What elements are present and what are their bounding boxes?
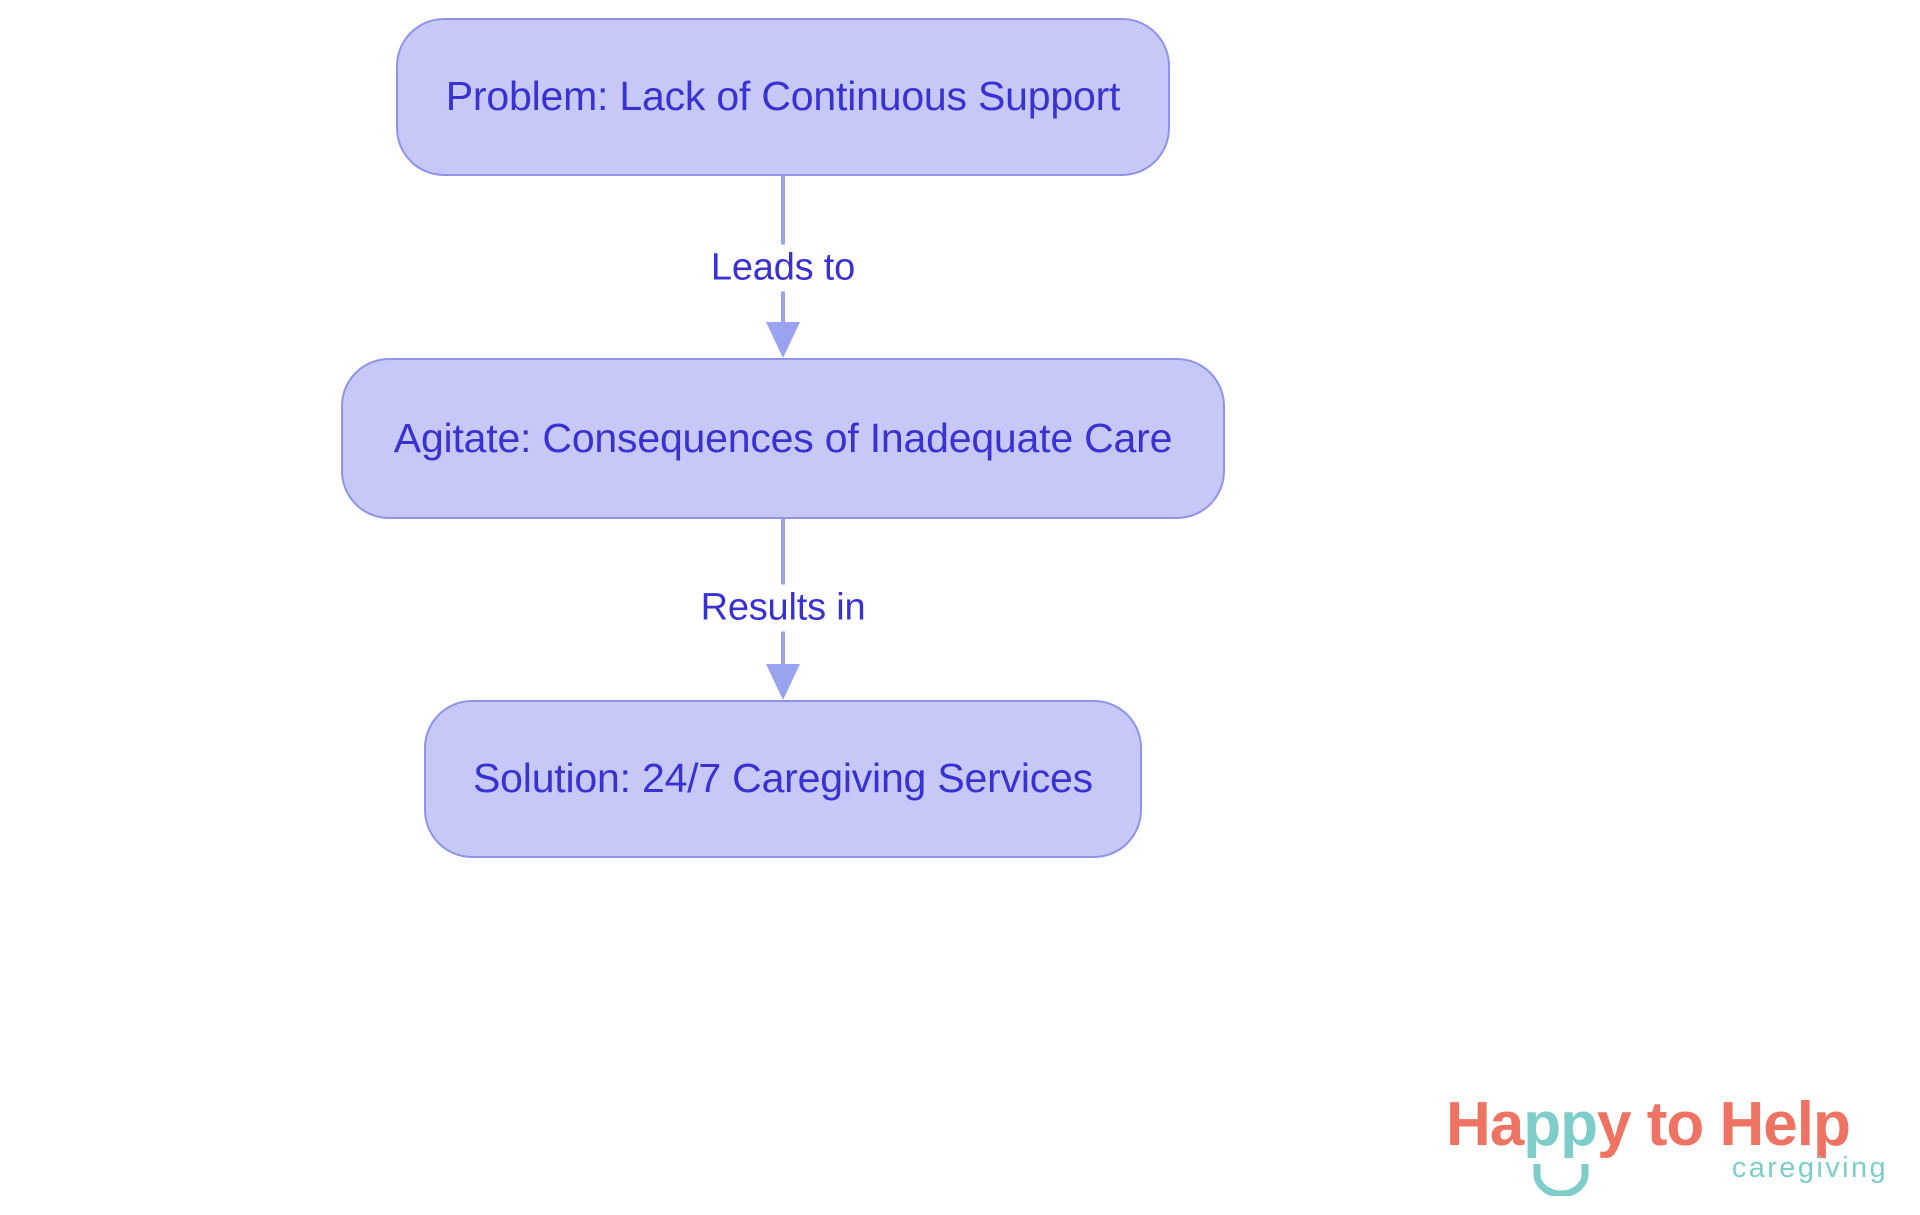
- edge-label-leads-to: Leads to: [701, 245, 865, 292]
- logo-tagline: caregiving: [1732, 1152, 1888, 1185]
- arrowhead-icon: [766, 664, 800, 700]
- logo-text-part-2: pp: [1523, 1090, 1597, 1159]
- node-label-agitate: Agitate: Consequences of Inadequate Care: [394, 415, 1172, 462]
- flowchart-node-problem[interactable]: Problem: Lack of Continuous Support: [396, 18, 1170, 176]
- brand-logo: Happy to Help caregiving: [1446, 1094, 1892, 1202]
- edge-label-results-in: Results in: [691, 585, 876, 632]
- logo-text-part-3: y to Help: [1597, 1090, 1850, 1159]
- flowchart-canvas: Problem: Lack of Continuous Support Agit…: [0, 0, 1920, 1215]
- node-label-solution: Solution: 24/7 Caregiving Services: [473, 755, 1093, 802]
- node-label-problem: Problem: Lack of Continuous Support: [446, 73, 1120, 120]
- smile-icon: [1532, 1162, 1590, 1196]
- flowchart-node-agitate[interactable]: Agitate: Consequences of Inadequate Care: [341, 358, 1225, 519]
- logo-wordmark: Happy to Help: [1446, 1094, 1850, 1156]
- arrowhead-icon: [766, 322, 800, 358]
- flowchart-node-solution[interactable]: Solution: 24/7 Caregiving Services: [424, 700, 1142, 858]
- logo-text-part-1: Ha: [1446, 1090, 1523, 1159]
